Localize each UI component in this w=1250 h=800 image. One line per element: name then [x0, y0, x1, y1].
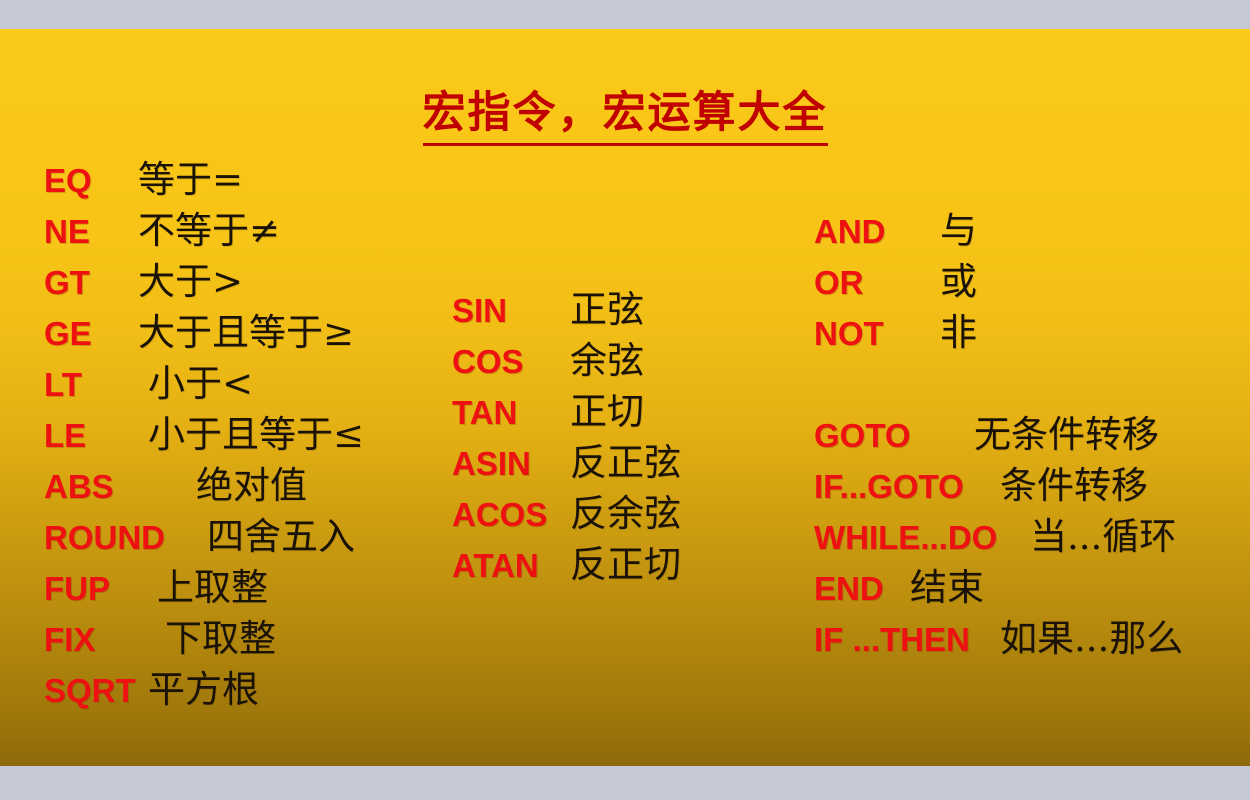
list-item-abs: ABS绝对值 — [44, 467, 307, 504]
list-item-fup: FUP上取整 — [44, 569, 268, 606]
meaning-if-then: 如果...那么 — [1000, 617, 1183, 660]
code-ge: GE — [44, 317, 138, 350]
code-cos: COS — [452, 345, 570, 378]
list-item-if-then: IF ...THEN如果...那么 — [814, 620, 1183, 657]
list-item-le: LE小于且等于≤ — [44, 416, 364, 453]
code-gt: GT — [44, 266, 138, 299]
list-item-acos: ACOS反余弦 — [452, 495, 681, 532]
code-ne: NE — [44, 215, 138, 248]
list-item-end: END结束 — [814, 569, 984, 606]
meaning-gt: 大于> — [138, 260, 243, 303]
code-acos: ACOS — [452, 498, 570, 531]
list-item-lt: LT小于< — [44, 365, 253, 402]
list-item-asin: ASIN反正弦 — [452, 444, 681, 481]
list-item-not: NOT非 — [814, 314, 977, 351]
list-item-sqrt: SQRT平方根 — [44, 671, 259, 708]
code-and: AND — [814, 215, 940, 248]
meaning-fup: 上取整 — [157, 566, 268, 609]
code-le: LE — [44, 419, 148, 452]
list-item-fix: FIX下取整 — [44, 620, 276, 657]
list-item-and: AND与 — [814, 212, 977, 249]
meaning-goto: 无条件转移 — [974, 413, 1159, 456]
list-item-ne: NE不等于≠ — [44, 212, 280, 249]
meaning-end: 结束 — [910, 566, 984, 609]
code-tan: TAN — [452, 396, 570, 429]
meaning-acos: 反余弦 — [570, 492, 681, 535]
list-item-atan: ATAN反正切 — [452, 546, 681, 583]
meaning-round: 四舍五入 — [207, 515, 355, 558]
list-item-or: OR或 — [814, 263, 977, 300]
meaning-if-goto: 条件转移 — [1000, 464, 1148, 507]
meaning-abs: 绝对值 — [196, 464, 307, 507]
meaning-sqrt: 平方根 — [148, 668, 259, 711]
list-item-gt: GT大于> — [44, 263, 243, 300]
code-goto: GOTO — [814, 419, 974, 452]
meaning-le: 小于且等于≤ — [148, 413, 364, 456]
code-if-goto: IF...GOTO — [814, 470, 1000, 503]
code-eq: EQ — [44, 164, 138, 197]
meaning-asin: 反正弦 — [570, 441, 681, 484]
meaning-while-do: 当...循环 — [1030, 515, 1176, 558]
meaning-cos: 余弦 — [570, 339, 644, 382]
code-not: NOT — [814, 317, 940, 350]
code-sqrt: SQRT — [44, 674, 148, 707]
list-item-while-do: WHILE...DO当...循环 — [814, 518, 1176, 555]
code-sin: SIN — [452, 294, 570, 327]
code-while-do: WHILE...DO — [814, 521, 1030, 554]
code-atan: ATAN — [452, 549, 570, 582]
code-if-then: IF ...THEN — [814, 623, 1000, 656]
code-fix: FIX — [44, 623, 165, 656]
meaning-not: 非 — [940, 311, 977, 354]
code-fup: FUP — [44, 572, 157, 605]
list-item-eq: EQ等于= — [44, 161, 243, 198]
slide-background: 宏指令，宏运算大全 EQ等于= NE不等于≠ GT大于> GE大于且等于≥ LT… — [0, 29, 1250, 766]
meaning-sin: 正弦 — [570, 288, 644, 331]
meaning-tan: 正切 — [570, 390, 644, 433]
slide-canvas: 宏指令，宏运算大全 EQ等于= NE不等于≠ GT大于> GE大于且等于≥ LT… — [0, 0, 1250, 800]
meaning-atan: 反正切 — [570, 543, 681, 586]
code-asin: ASIN — [452, 447, 570, 480]
list-item-ge: GE大于且等于≥ — [44, 314, 354, 351]
meaning-eq: 等于= — [138, 158, 243, 201]
page-title-text: 宏指令，宏运算大全 — [423, 78, 828, 146]
meaning-fix: 下取整 — [165, 617, 276, 660]
code-round: ROUND — [44, 521, 207, 554]
list-item-sin: SIN正弦 — [452, 291, 644, 328]
code-abs: ABS — [44, 470, 196, 503]
page-title: 宏指令，宏运算大全 — [0, 78, 1250, 146]
meaning-and: 与 — [940, 209, 977, 252]
list-item-tan: TAN正切 — [452, 393, 644, 430]
list-item-if-goto: IF...GOTO条件转移 — [814, 467, 1148, 504]
code-or: OR — [814, 266, 940, 299]
meaning-or: 或 — [940, 260, 977, 303]
meaning-ge: 大于且等于≥ — [138, 311, 354, 354]
meaning-lt: 小于< — [148, 362, 253, 405]
list-item-cos: COS余弦 — [452, 342, 644, 379]
list-item-round: ROUND四舍五入 — [44, 518, 355, 555]
code-lt: LT — [44, 368, 148, 401]
list-item-goto: GOTO无条件转移 — [814, 416, 1159, 453]
meaning-ne: 不等于≠ — [138, 209, 280, 252]
code-end: END — [814, 572, 910, 605]
